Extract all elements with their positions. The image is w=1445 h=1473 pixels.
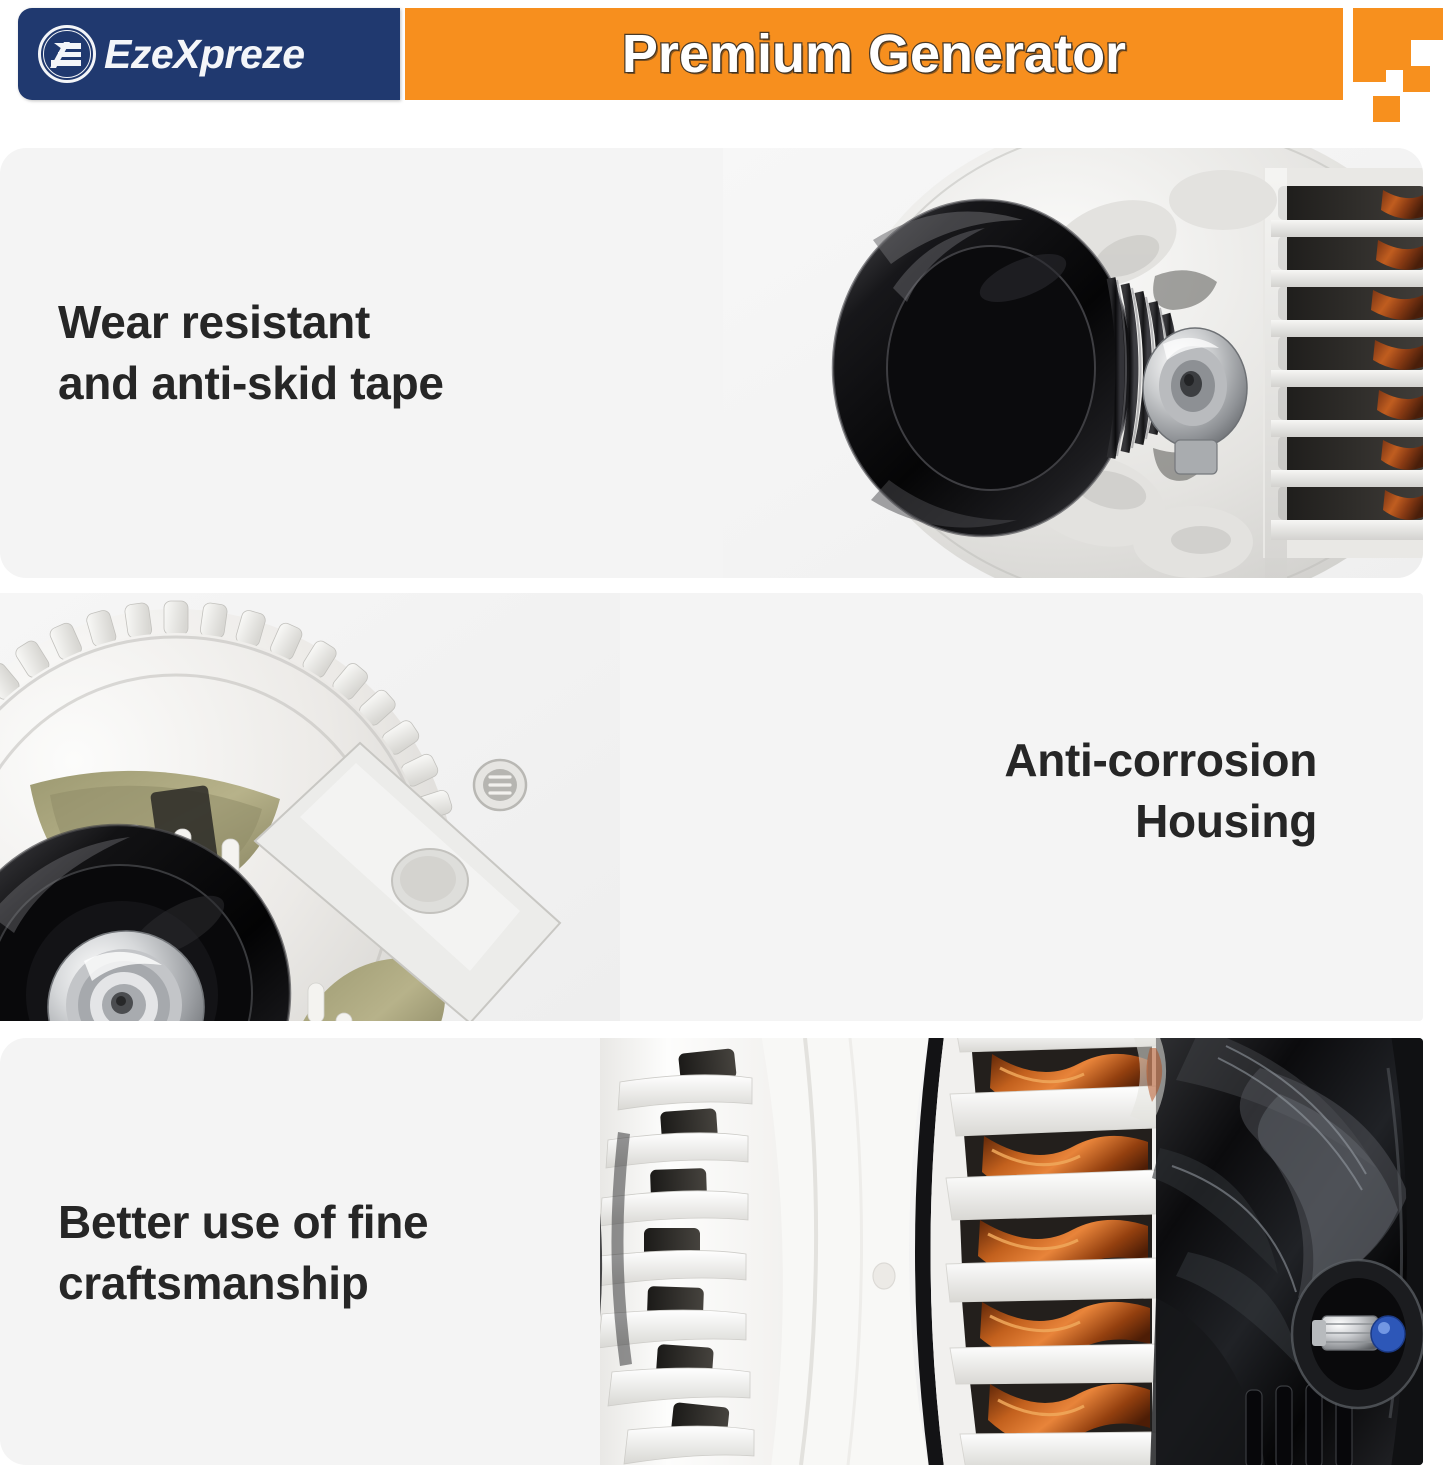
panel-gap	[0, 1021, 1445, 1038]
feature-caption-3: Better use of fine craftsmanship	[58, 1192, 428, 1314]
alternator-stator-and-rear-cover-photo	[600, 1038, 1423, 1465]
alternator-housing-photo	[0, 593, 620, 1021]
stepped-squares-decoration-icon	[1353, 8, 1443, 40]
page-header: EzeXpreze Premium Generator	[0, 0, 1445, 122]
feature-caption-1: Wear resistant and anti-skid tape	[58, 292, 444, 414]
brand-bar: EzeXpreze	[18, 8, 400, 100]
page-title: Premium Generator	[622, 23, 1126, 85]
circle-z-logo-icon	[36, 23, 98, 85]
title-bar: Premium Generator	[405, 8, 1343, 100]
bottom-gap	[0, 1465, 1445, 1473]
panel-gap	[0, 578, 1445, 593]
stepped-squares-decoration-part	[1353, 70, 1386, 82]
stepped-squares-decoration-square	[1403, 66, 1430, 92]
brand-name: EzeXpreze	[104, 31, 305, 78]
feature-caption-2: Anti-corrosion Housing	[1004, 730, 1317, 852]
alternator-pulley-closeup-photo	[723, 148, 1423, 578]
stepped-squares-decoration-square	[1373, 96, 1400, 122]
